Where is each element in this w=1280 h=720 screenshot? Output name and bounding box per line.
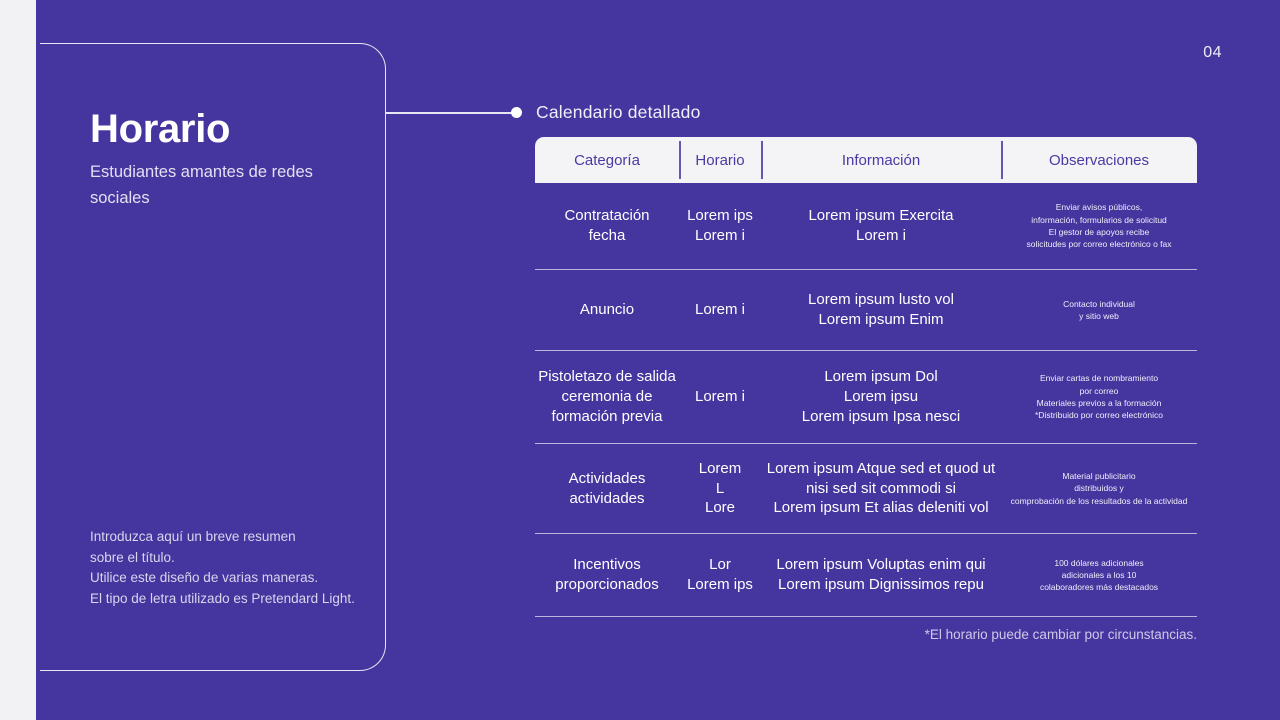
table-row: Actividadesactividades LoremLLore Lorem … (535, 444, 1197, 534)
slide-canvas: 04 Horario Estudiantes amantes de redes … (0, 0, 1280, 720)
cell-observaciones: Enviar avisos públicos,información, form… (1001, 197, 1197, 254)
cell-informacion: Lorem ipsum DolLorem ipsuLorem ipsum Ips… (761, 363, 1001, 430)
left-note-block: Introduzca aquí un breve resumen sobre e… (90, 527, 380, 609)
cell-categoria: Contrataciónfecha (535, 202, 679, 250)
table-header-row: Categoría Horario Información Observacio… (535, 137, 1197, 183)
section-title: Calendario detallado (536, 102, 701, 123)
cell-horario: Lorem i (679, 296, 761, 324)
column-header-horario: Horario (679, 137, 761, 183)
cell-informacion: Lorem ipsum lusto volLorem ipsum Enim (761, 286, 1001, 334)
cell-horario: LorLorem ips (679, 551, 761, 599)
page-subtitle: Estudiantes amantes de redes sociales (90, 160, 340, 211)
table-footnote: *El horario puede cambiar por circunstan… (535, 627, 1197, 642)
column-header-categoria: Categoría (535, 137, 679, 183)
table-row: Pistoletazo de salidaceremonia deformaci… (535, 351, 1197, 444)
cell-observaciones: Contacto individualy sitio web (1001, 294, 1197, 327)
cell-categoria: Pistoletazo de salidaceremonia deformaci… (535, 363, 679, 430)
page-title: Horario (90, 107, 230, 151)
left-note-line: sobre el título. (90, 548, 380, 569)
cell-horario: Lorem i (679, 383, 761, 411)
cell-categoria: Anuncio (535, 296, 679, 324)
column-header-observaciones: Observaciones (1001, 137, 1197, 183)
cell-informacion: Lorem ipsum Voluptas enim quiLorem ipsum… (761, 551, 1001, 599)
schedule-table: Categoría Horario Información Observacio… (535, 137, 1197, 617)
cell-horario: Lorem ipsLorem i (679, 202, 761, 250)
table-row: Incentivosproporcionados LorLorem ips Lo… (535, 534, 1197, 617)
cell-observaciones: Material publicitariodistribuidos ycompr… (1001, 466, 1197, 511)
left-note-line: El tipo de letra utilizado es Pretendard… (90, 589, 380, 610)
table-row: Anuncio Lorem i Lorem ipsum lusto volLor… (535, 270, 1197, 351)
page-number: 04 (1203, 44, 1222, 62)
left-note-line: Introduzca aquí un breve resumen (90, 527, 380, 548)
table-row: Contrataciónfecha Lorem ipsLorem i Lorem… (535, 183, 1197, 270)
cell-categoria: Incentivosproporcionados (535, 551, 679, 599)
cell-categoria: Actividadesactividades (535, 465, 679, 513)
connector-dot-icon (511, 107, 522, 118)
cell-horario: LoremLLore (679, 455, 761, 522)
cell-observaciones: 100 dólares adicionalesadicionales a los… (1001, 553, 1197, 598)
cell-informacion: Lorem ipsum ExercitaLorem i (761, 202, 1001, 250)
connector-line (386, 112, 512, 114)
left-note-line: Utilice este diseño de varias maneras. (90, 568, 380, 589)
column-header-informacion: Información (761, 137, 1001, 183)
cell-observaciones: Enviar cartas de nombramientopor correoM… (1001, 368, 1197, 425)
cell-informacion: Lorem ipsum Atque sed et quod utnisi sed… (761, 455, 1001, 522)
